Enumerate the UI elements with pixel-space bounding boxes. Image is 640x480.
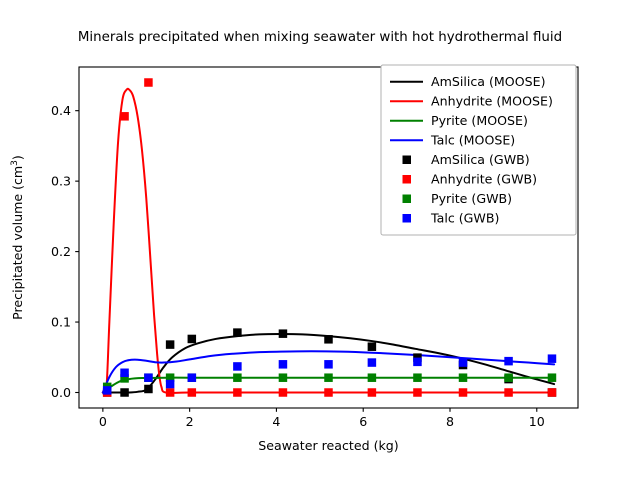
- data-marker: [548, 354, 557, 363]
- y-tick-label-0.0: 0.0: [51, 385, 71, 400]
- x-tick-label-4: 4: [272, 414, 280, 429]
- data-marker: [548, 388, 557, 397]
- data-marker: [166, 388, 175, 397]
- data-marker: [368, 373, 377, 382]
- data-marker: [279, 388, 288, 397]
- legend-background: [381, 65, 576, 235]
- x-tick-label-6: 6: [359, 414, 367, 429]
- data-marker: [279, 360, 288, 369]
- x-tick-label-8: 8: [446, 414, 454, 429]
- y-axis-label: Precipitated volume (cm3): [10, 155, 25, 320]
- data-marker: [504, 357, 513, 366]
- data-marker: [459, 358, 468, 367]
- data-marker: [120, 112, 129, 121]
- y-tick-label-0.1: 0.1: [51, 315, 71, 330]
- y-tick-label-0.4: 0.4: [51, 103, 71, 118]
- data-marker: [233, 328, 242, 337]
- x-tick-label-10: 10: [529, 414, 545, 429]
- data-marker: [324, 360, 333, 369]
- data-marker: [368, 358, 377, 367]
- y-tick-label-0.2: 0.2: [51, 244, 71, 259]
- data-marker: [548, 373, 557, 382]
- figure-canvas: Minerals precipitated when mixing seawat…: [0, 0, 640, 480]
- x-tick-label-0: 0: [99, 414, 107, 429]
- data-marker: [324, 335, 333, 344]
- data-marker: [188, 335, 197, 344]
- data-marker: [166, 380, 175, 389]
- data-marker: [233, 362, 242, 371]
- legend-label: Anhydrite (MOOSE): [431, 94, 553, 109]
- data-marker: [233, 373, 242, 382]
- data-marker: [144, 373, 153, 382]
- data-marker: [413, 373, 422, 382]
- y-tick-label-0.3: 0.3: [51, 174, 71, 189]
- data-marker: [120, 388, 129, 397]
- data-marker: [279, 329, 288, 338]
- data-marker: [504, 373, 513, 382]
- data-marker: [279, 373, 288, 382]
- legend-marker-swatch: [403, 214, 412, 223]
- data-marker: [324, 373, 333, 382]
- chart-plot-area: 02468100.00.10.20.30.4 Seawater reacted …: [0, 0, 640, 480]
- legend-label: AmSilica (MOOSE): [431, 74, 546, 89]
- legend-marker-swatch: [403, 156, 412, 165]
- legend-label: Pyrite (GWB): [431, 191, 512, 206]
- page-title: Minerals precipitated when mixing seawat…: [0, 30, 640, 45]
- legend-label: Talc (GWB): [430, 211, 499, 226]
- legend-label: Anhydrite (GWB): [431, 172, 537, 187]
- x-axis-label: Seawater reacted (kg): [258, 438, 398, 453]
- legend-label: Pyrite (MOOSE): [431, 113, 528, 128]
- data-marker: [120, 369, 129, 378]
- data-marker: [368, 342, 377, 351]
- data-marker: [413, 388, 422, 397]
- data-marker: [144, 78, 153, 87]
- legend-marker-swatch: [403, 195, 412, 204]
- legend-label: AmSilica (GWB): [431, 152, 530, 167]
- data-marker: [233, 388, 242, 397]
- legend-label: Talc (MOOSE): [430, 133, 515, 148]
- data-marker: [368, 388, 377, 397]
- data-marker: [504, 388, 513, 397]
- x-tick-label-2: 2: [186, 414, 194, 429]
- legend-marker-swatch: [403, 175, 412, 184]
- data-marker: [103, 386, 112, 395]
- data-marker: [459, 388, 468, 397]
- data-marker: [413, 358, 422, 367]
- data-marker: [324, 388, 333, 397]
- data-marker: [459, 373, 468, 382]
- chart-legend[interactable]: AmSilica (MOOSE)Anhydrite (MOOSE)Pyrite …: [381, 65, 576, 235]
- data-marker: [166, 340, 175, 349]
- data-marker: [188, 388, 197, 397]
- data-marker: [188, 373, 197, 382]
- data-marker: [144, 385, 153, 394]
